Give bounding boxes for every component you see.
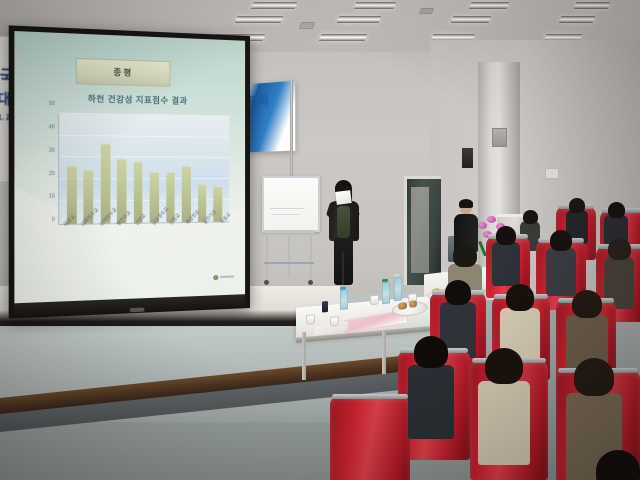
chart-y-tick: 30: [49, 147, 55, 153]
chart-y-tick: 20: [49, 171, 55, 177]
wall-switch-icon: [545, 168, 559, 179]
hair: [485, 348, 523, 384]
ceiling-vent-icon: [299, 22, 316, 29]
audience-member: [596, 450, 640, 480]
ceiling-light-icon: [354, 2, 397, 9]
hair: [496, 226, 516, 245]
slide-header-box: 종평: [75, 58, 170, 87]
ceiling-light-icon: [235, 16, 284, 23]
audience-member: [546, 230, 576, 299]
chart-y-tick: 50: [49, 101, 55, 108]
hair: [550, 230, 572, 251]
ceiling-light-icon: [251, 2, 298, 9]
audience-member: [478, 348, 530, 468]
torso: [546, 248, 576, 296]
audience-section: [0, 200, 640, 480]
torso: [478, 381, 530, 465]
ceiling-vent-icon: [419, 8, 434, 14]
hair: [445, 280, 471, 305]
torso: [492, 242, 520, 286]
slide-header-text: 종평: [113, 66, 133, 78]
ceiling-light-icon: [469, 2, 510, 9]
wall-panel-icon: [492, 128, 507, 147]
seat-top-rail: [332, 394, 408, 399]
hair: [596, 450, 640, 480]
ceiling-light-icon: [319, 34, 368, 41]
hair: [453, 244, 477, 267]
audience-member: [492, 226, 520, 289]
hair: [608, 238, 631, 260]
hair: [572, 290, 602, 318]
chart-y-tick: 40: [49, 124, 55, 130]
hair: [608, 202, 625, 218]
torso: [408, 365, 454, 439]
seat-red[interactable]: [330, 396, 410, 480]
hair: [574, 358, 614, 396]
ceiling-light-icon: [574, 2, 611, 9]
hair: [414, 336, 448, 368]
hair: [523, 210, 538, 224]
hair: [569, 198, 585, 213]
ceiling-light-icon: [337, 16, 382, 23]
hair: [506, 284, 534, 311]
ceiling-light-icon: [559, 16, 596, 23]
ceiling-light-icon: [451, 16, 492, 23]
audience-member: [408, 336, 454, 442]
wall-speaker-icon: [462, 148, 473, 168]
auditorium-photo: 국 대 대구 · 1. 20(금) 1 발표회 대회 대학교 환경학과 종평 하…: [0, 0, 640, 480]
